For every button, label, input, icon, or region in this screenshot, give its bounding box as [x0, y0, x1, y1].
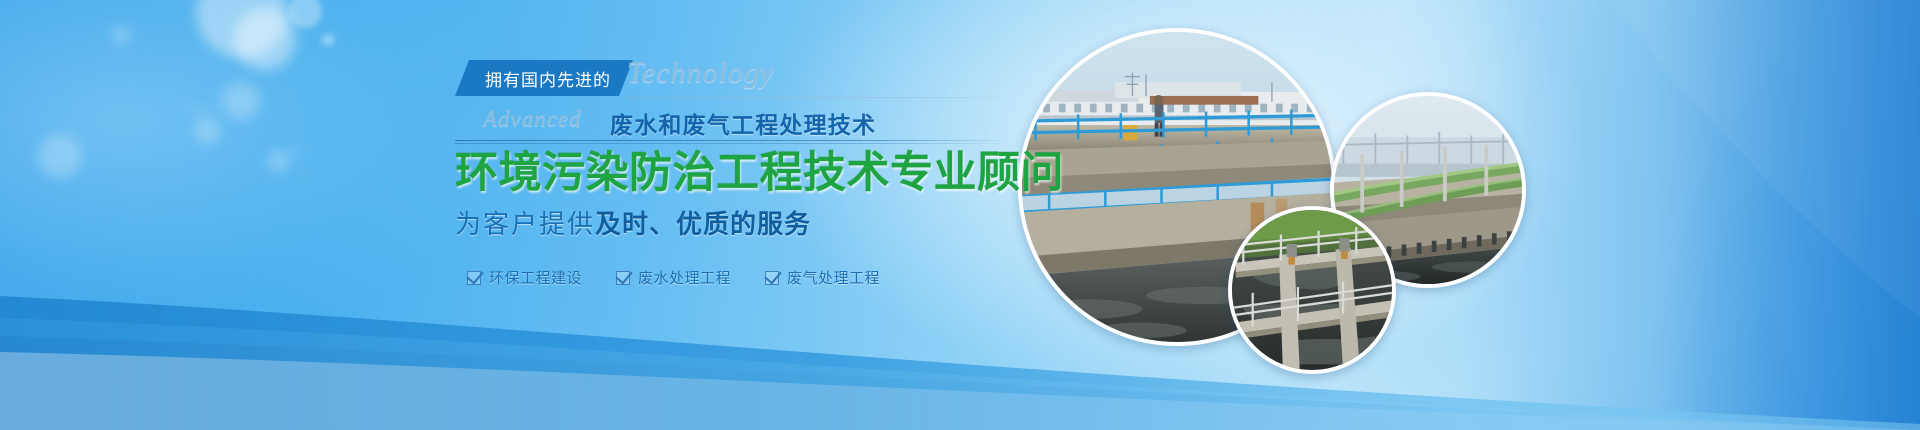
- banner-content: 拥有国内先进的 Technology Advanced 废水和废气工程处理技术 …: [0, 0, 1920, 430]
- checklist-label: 废气处理工程: [787, 267, 880, 288]
- technology-en-label: Technology: [627, 56, 774, 90]
- subheadline-row: Advanced 废水和废气工程处理技术: [455, 104, 1035, 142]
- eyebrow-row: 拥有国内先进的 Technology: [455, 56, 1035, 100]
- checklist-label: 废水处理工程: [638, 267, 731, 288]
- checklist-item-0[interactable]: 环保工程建设: [467, 267, 582, 288]
- tagline-badge: 拥有国内先进的: [455, 60, 633, 96]
- tagline-text: 为客户提供及时、优质的服务: [455, 204, 1035, 241]
- advanced-en-label: Advanced: [483, 106, 582, 132]
- service-checklist: 环保工程建设 废水处理工程 废气处理工程: [455, 267, 1035, 288]
- subheadline-divider: [455, 140, 1015, 144]
- page-title: 环境污染防治工程技术专业顾问: [455, 150, 1035, 196]
- checklist-item-2[interactable]: 废气处理工程: [765, 267, 880, 288]
- text-block: 拥有国内先进的 Technology Advanced 废水和废气工程处理技术 …: [455, 56, 1035, 288]
- check-icon: [616, 271, 630, 285]
- checklist-item-1[interactable]: 废水处理工程: [616, 267, 731, 288]
- tagline-light: 为客户提供: [455, 209, 595, 239]
- hero-banner: 拥有国内先进的 Technology Advanced 废水和废气工程处理技术 …: [0, 0, 1920, 430]
- check-icon: [467, 271, 481, 285]
- tagline-badge-label: 拥有国内先进的: [485, 66, 611, 91]
- tagline-bold: 及时、优质的服务: [595, 209, 811, 239]
- subheadline-label: 废水和废气工程处理技术: [610, 106, 876, 140]
- check-icon: [765, 271, 779, 285]
- eyebrow-divider: [627, 97, 1011, 98]
- checklist-label: 环保工程建设: [489, 267, 582, 288]
